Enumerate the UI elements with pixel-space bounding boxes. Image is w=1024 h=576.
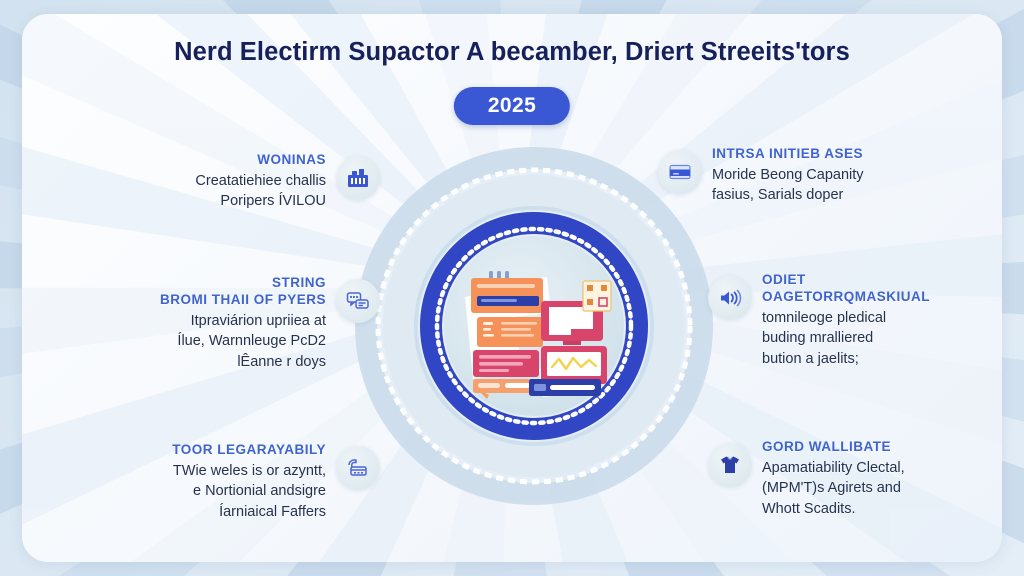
feature-body-line: bution a jaelits; — [762, 349, 930, 370]
feature-heading: TOOR LEGARAYABILY — [98, 442, 326, 459]
feature-heading: ODIET OAGETORRQMASKIUAL — [762, 272, 930, 306]
feature-body: Moride Beong Capanity fasius, Sarials do… — [712, 165, 864, 206]
feature-heading: GORD WALLIBATE — [762, 439, 905, 456]
feature-toor-legarayabily[interactable]: TOOR LEGARAYABILY TWie weles is or azynt… — [98, 442, 380, 523]
feature-intrsa-initieb[interactable]: INTRSA INITIEB ASES Moride Beong Capanit… — [658, 146, 958, 206]
speaker-icon — [708, 276, 752, 320]
feature-text: TOOR LEGARAYABILY TWie weles is or azynt… — [98, 442, 326, 523]
feature-heading-line1: TOOR LEGARAYABILY — [172, 442, 326, 457]
feature-body: Creatatiehiee challis Poripers ÍVILOU — [130, 171, 326, 212]
feature-body-line: (MPM'T)s Agirets and — [762, 478, 905, 499]
feature-heading-line2: OAGETORRQMASKIUAL — [762, 289, 930, 306]
feature-text: INTRSA INITIEB ASES Moride Beong Capanit… — [712, 146, 864, 206]
feature-body-line: Whott Scadits. — [762, 499, 905, 520]
feature-gord-wallibate[interactable]: GORD WALLIBATE Apamatiability Clectal, (… — [708, 439, 1000, 520]
central-documents-illustration — [451, 251, 617, 401]
feature-body-line: fasius, Sarials doper — [712, 185, 864, 206]
feature-body-line: tomnileoge pledical — [762, 308, 930, 329]
year-badge: 2025 — [454, 87, 570, 125]
feature-text: STRING BROMI THAII OF PYERS Itpraviárion… — [106, 275, 326, 372]
feature-body-line: Itpraviárion upriiea at — [106, 311, 326, 332]
chat-bubble-icon — [336, 279, 380, 323]
feature-heading: INTRSA INITIEB ASES — [712, 146, 864, 163]
shirt-icon — [708, 443, 752, 487]
feature-heading-line1: GORD WALLIBATE — [762, 439, 891, 454]
feature-string-bromi[interactable]: STRING BROMI THAII OF PYERS Itpraviárion… — [106, 275, 380, 372]
feature-body-line: Poripers ÍVILOU — [130, 191, 326, 212]
feature-heading-line1: INTRSA INITIEB ASES — [712, 146, 863, 161]
feature-body-line: TWie weles is or azyntt, — [98, 461, 326, 482]
hand-card-icon — [336, 446, 380, 490]
feature-text: GORD WALLIBATE Apamatiability Clectal, (… — [762, 439, 905, 520]
feature-body: Apamatiability Clectal, (MPM'T)s Agirets… — [762, 458, 905, 520]
feature-body-line: Ílue, Warnnleuge PcD2 — [106, 331, 326, 352]
infographic-stage: Nerd Electirm Supactor A becamber, Drier… — [0, 0, 1024, 576]
content-card: Nerd Electirm Supactor A becamber, Drier… — [22, 14, 1002, 562]
feature-body-line: Creatatiehiee challis — [130, 171, 326, 192]
feature-body-line: Íarniaical Faffers — [98, 502, 326, 523]
feature-heading-line1: STRING — [272, 275, 326, 290]
feature-heading-line1: ODIET — [762, 272, 806, 287]
feature-body: TWie weles is or azyntt, e Nortionial an… — [98, 461, 326, 523]
feature-body-line: buding mralliered — [762, 328, 930, 349]
feature-body-line: Apamatiability Clectal, — [762, 458, 905, 479]
feature-heading-line2: BROMI THAII OF PYERS — [106, 292, 326, 309]
office-building-icon — [336, 156, 380, 200]
feature-heading-line1: WONINAS — [257, 152, 326, 167]
feature-odiet[interactable]: ODIET OAGETORRQMASKIUAL tomnileoge pledi… — [708, 272, 998, 369]
feature-heading: WONINAS — [130, 152, 326, 169]
feature-body: Itpraviárion upriiea at Ílue, Warnnleuge… — [106, 311, 326, 373]
credit-card-icon — [658, 150, 702, 194]
feature-woninas[interactable]: WONINAS Creatatiehiee challis Poripers Í… — [130, 152, 380, 212]
feature-text: ODIET OAGETORRQMASKIUAL tomnileoge pledi… — [762, 272, 930, 369]
feature-body-line: lÊanne r doys — [106, 352, 326, 373]
feature-body-line: Moride Beong Capanity — [712, 165, 864, 186]
feature-body: tomnileoge pledical buding mralliered bu… — [762, 308, 930, 370]
feature-body-line: e Nortionial andsigre — [98, 481, 326, 502]
page-title: Nerd Electirm Supactor A becamber, Drier… — [22, 38, 1002, 67]
feature-text: WONINAS Creatatiehiee challis Poripers Í… — [130, 152, 326, 212]
feature-heading: STRING BROMI THAII OF PYERS — [106, 275, 326, 309]
